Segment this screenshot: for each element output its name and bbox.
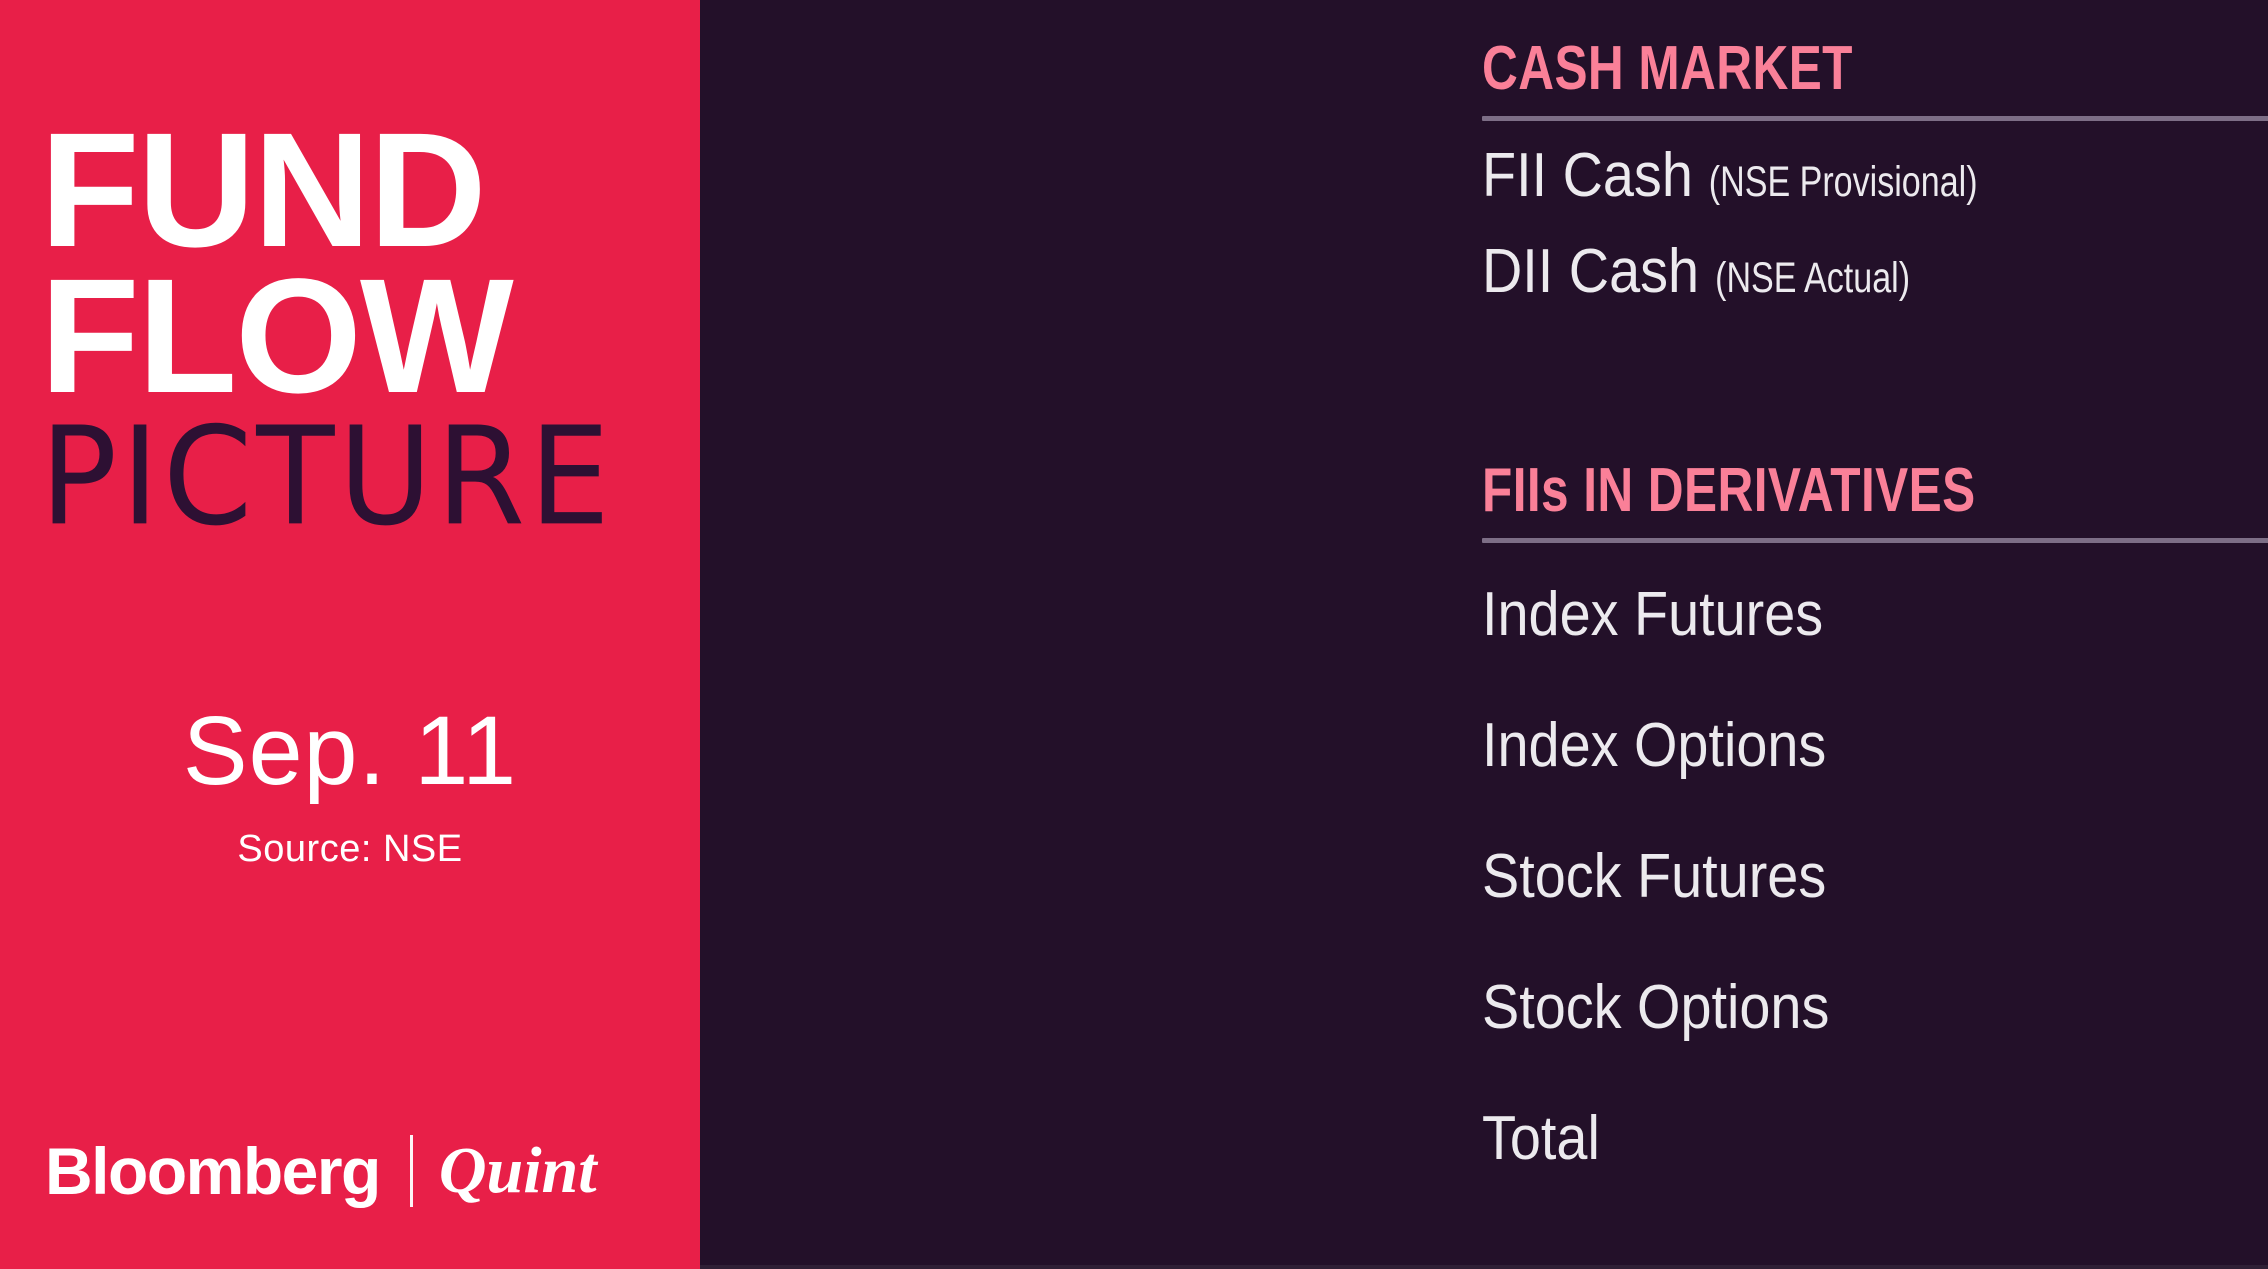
row-label: Index Options <box>1482 710 2268 781</box>
row-label-main: Index Futures <box>1482 579 1823 650</box>
row-label-main: Stock Futures <box>1482 841 1826 912</box>
row-label: Total <box>1482 1103 2268 1174</box>
row-label: Stock Options <box>1482 972 2268 1043</box>
branding-panel: FUND FLOW PICTURE Sep. 11 Source: NSE Bl… <box>0 0 700 1269</box>
derivatives-rows: Index Futures 1,676 Index Options 780 <box>1482 549 2268 1204</box>
section-title: CASH MARKET <box>1482 38 1853 100</box>
brand-line-fund: FUND <box>40 120 670 260</box>
table-row: Stock Futures 361 <box>1482 811 2268 942</box>
logo-bloomberg-text: Bloomberg <box>45 1138 380 1204</box>
section-divider <box>1482 538 2268 543</box>
cash-market-rows: FII Cash (NSE Provisional) 1,454 DII Cas… <box>1482 127 2268 319</box>
row-label: Index Futures <box>1482 579 2268 650</box>
section-divider <box>1482 116 2268 121</box>
report-date: Sep. 11 <box>0 700 700 802</box>
row-label-main: DII Cash <box>1482 236 1699 307</box>
row-label-main: Index Options <box>1482 710 1826 781</box>
section-title: FIIs IN DERIVATIVES <box>1482 460 1976 522</box>
table-row: Index Futures 1,676 <box>1482 549 2268 680</box>
brand-line-flow: FLOW <box>40 266 670 406</box>
data-panel: CASH MARKET Rs Crore FII Cash (NSE Provi… <box>700 0 2268 1269</box>
row-label-main: Stock Options <box>1482 972 1829 1043</box>
logo-divider <box>410 1135 413 1207</box>
row-label: DII Cash (NSE Actual) <box>1482 236 2268 307</box>
table-row: DII Cash (NSE Actual) 749 <box>1482 223 2268 319</box>
fund-flow-picture-card: FUND FLOW PICTURE Sep. 11 Source: NSE Bl… <box>0 0 2268 1269</box>
brand-line-picture: PICTURE <box>40 410 670 546</box>
bottom-edge-strip <box>700 1265 2268 1269</box>
row-label-sub: (NSE Actual) <box>1715 254 1910 303</box>
row-label-sub: (NSE Provisional) <box>1709 158 1978 207</box>
brand-title-block: FUND FLOW PICTURE <box>40 120 670 538</box>
table-row: Total 1,245 <box>1482 1073 2268 1204</box>
section-header: CASH MARKET Rs Crore <box>1482 38 2268 104</box>
section-header: FIIs IN DERIVATIVES <box>1482 460 2268 526</box>
row-label: FII Cash (NSE Provisional) <box>1482 140 2268 211</box>
table-row: Stock Options 12 <box>1482 942 2268 1073</box>
section-cash-market: CASH MARKET Rs Crore FII Cash (NSE Provi… <box>1482 38 2268 319</box>
section-fiis-in-derivatives: FIIs IN DERIVATIVES Index Futures 1,676 <box>1482 460 2268 1204</box>
row-label: Stock Futures <box>1482 841 2268 912</box>
row-label-main: Total <box>1482 1103 1600 1174</box>
logo-quint-text: Quint <box>439 1138 597 1204</box>
row-label-main: FII Cash <box>1482 140 1693 211</box>
data-source-label: Source: NSE <box>0 828 700 871</box>
bloombergquint-logo: Bloomberg Quint <box>45 1135 597 1207</box>
table-row: Index Options 780 <box>1482 680 2268 811</box>
date-block: Sep. 11 Source: NSE <box>0 700 700 871</box>
table-row: FII Cash (NSE Provisional) 1,454 <box>1482 127 2268 223</box>
